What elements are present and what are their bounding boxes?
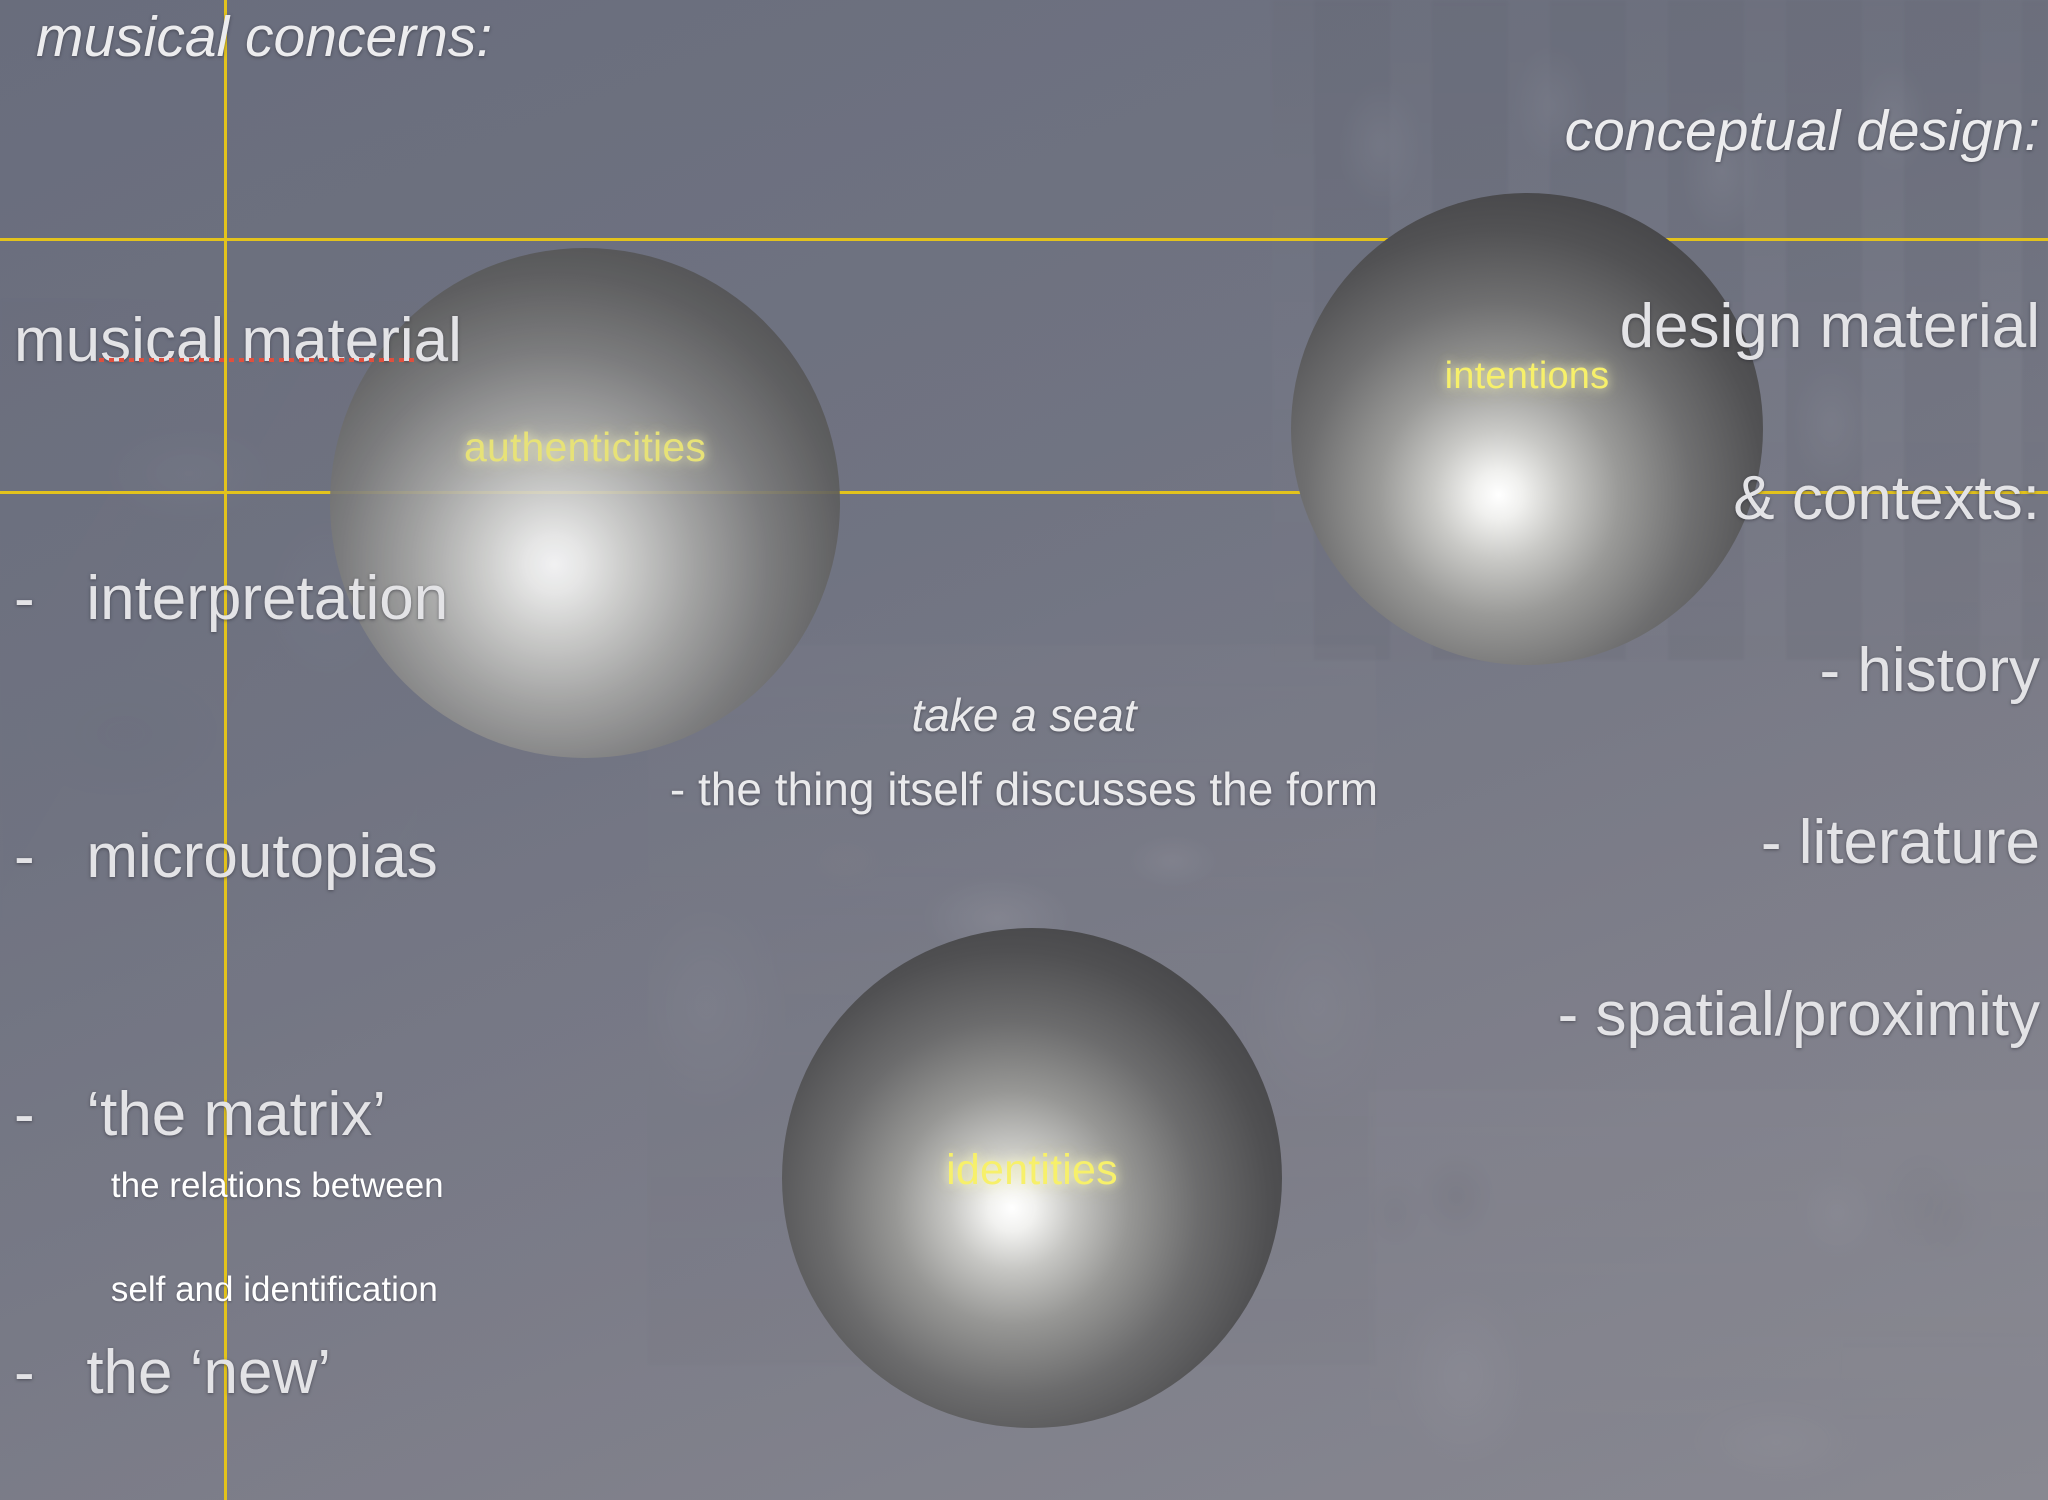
caption-relations-self-identification: the relations between self and identific… bbox=[72, 1108, 444, 1368]
sphere-identities[interactable]: identities bbox=[782, 928, 1282, 1428]
list-design-material: design material & contexts: - history - … bbox=[1489, 198, 2040, 1144]
list-item-musical-subheading: musical material bbox=[14, 298, 462, 384]
list-item-interpretation: - interpretation bbox=[14, 556, 462, 642]
heading-conceptual-design: conceptual design: bbox=[1565, 98, 2040, 164]
list-item-microutopias: - microutopias bbox=[14, 814, 462, 900]
list-item-spatial-proximity: - spatial/proximity bbox=[1558, 980, 2040, 1049]
list-item-design-subheading: design material bbox=[1620, 292, 2040, 361]
subtitle-thing-itself: - the thing itself discusses the form bbox=[0, 762, 2048, 816]
caption-line-1: the relations between bbox=[111, 1166, 444, 1205]
list-item-and-contexts: & contexts: bbox=[1733, 464, 2040, 533]
presentation-slide: authenticities intentions identities mus… bbox=[0, 0, 2048, 1500]
list-item-literature: - literature bbox=[1761, 808, 2040, 877]
heading-take-a-seat: take a seat bbox=[0, 688, 2048, 742]
sphere-label-identities: identities bbox=[782, 1146, 1282, 1195]
caption-line-2: self and identification bbox=[111, 1270, 438, 1309]
heading-musical-concerns: musical concerns: bbox=[36, 4, 492, 70]
spellcheck-underline-microutopias bbox=[99, 358, 417, 362]
